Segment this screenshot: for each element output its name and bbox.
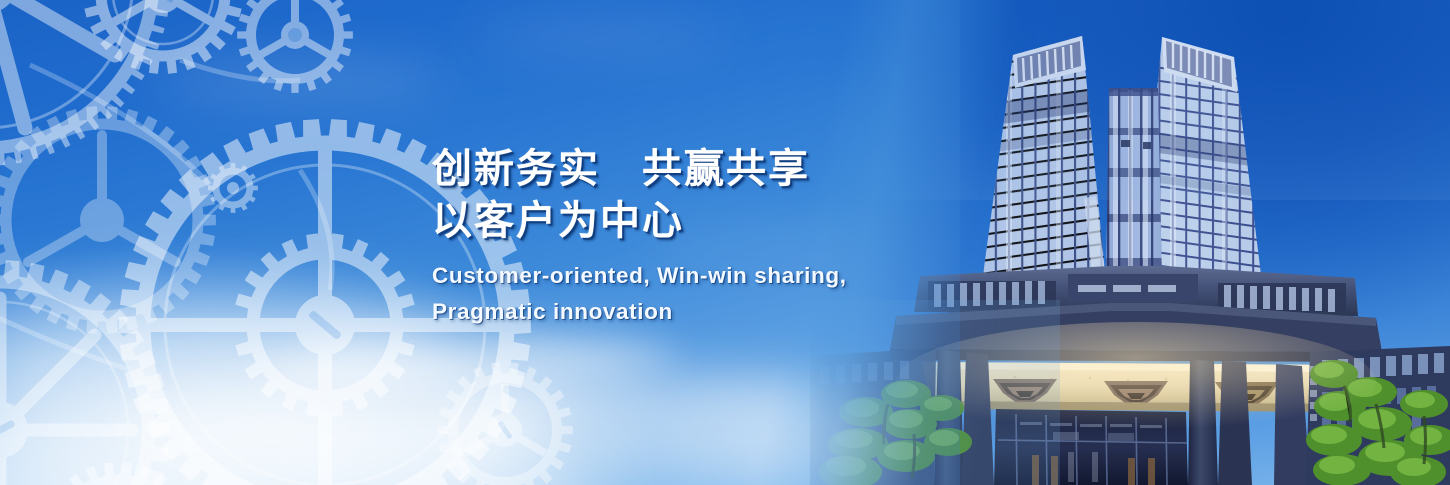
subheadline-line-1: Customer-oriented, Win-win sharing, — [432, 258, 992, 294]
headline-line-1: 创新务实 共赢共享 — [432, 143, 992, 195]
headline-line-2: 以客户为中心 — [432, 195, 992, 247]
banner-copy: 创新务实 共赢共享 以客户为中心 Customer-oriented, Win-… — [432, 143, 992, 330]
subheadline-block: Customer-oriented, Win-win sharing, Prag… — [432, 258, 992, 330]
subheadline-line-2: Pragmatic innovation — [432, 294, 992, 330]
hero-banner: 创新务实 共赢共享 以客户为中心 Customer-oriented, Win-… — [0, 0, 1450, 485]
